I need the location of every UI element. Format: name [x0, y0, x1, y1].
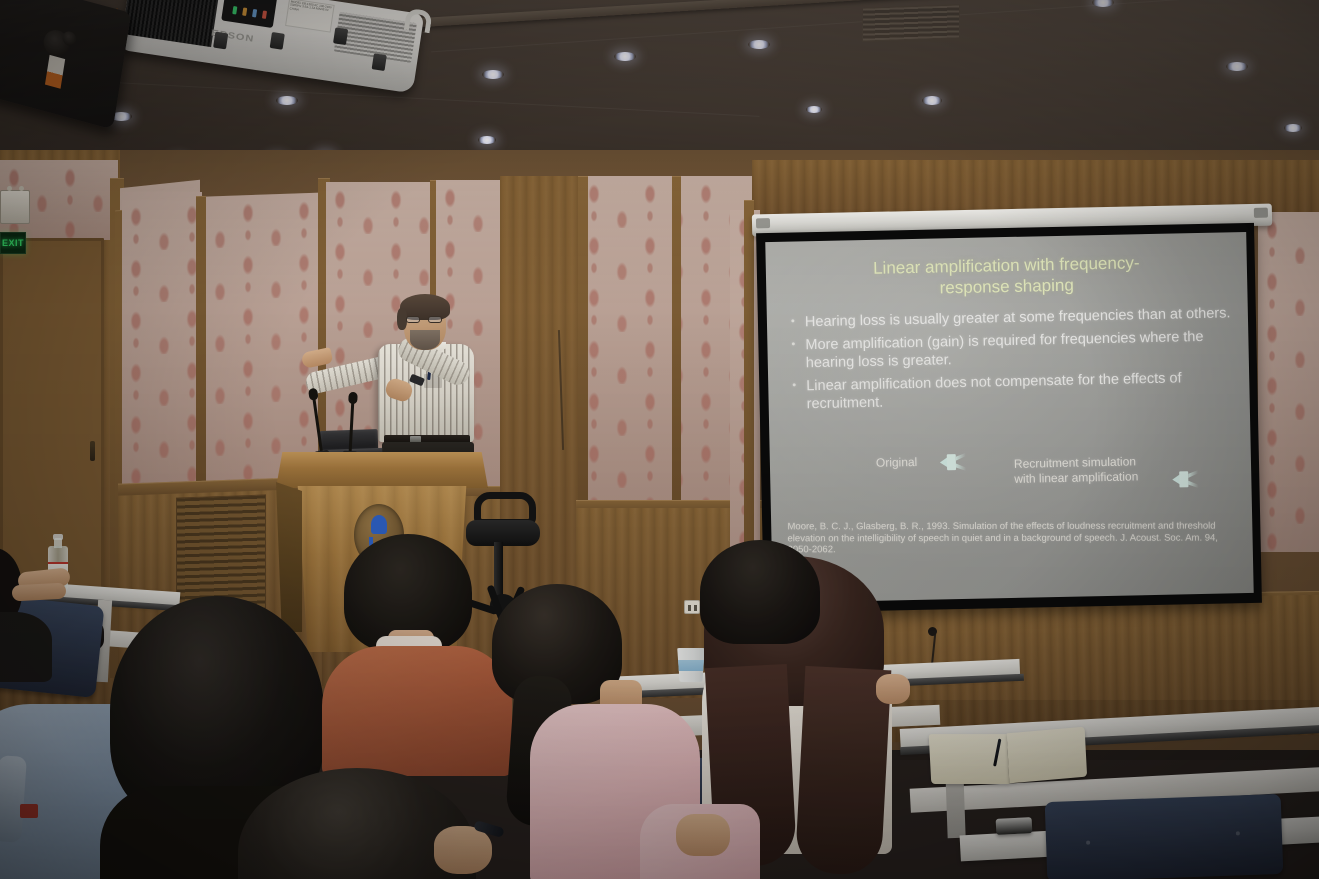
- mobile-phone: [996, 817, 1033, 835]
- ceiling-downlight: [1226, 62, 1248, 71]
- presentation-slide: Linear amplification with frequency- res…: [765, 232, 1253, 603]
- projector-mount-bracket: [213, 32, 228, 50]
- audience-member: [640, 804, 770, 879]
- slide-audio-label-original: Original: [876, 455, 918, 471]
- person-hair: [700, 540, 820, 644]
- slide-bullet-2: More amplification (gain) is required fo…: [789, 327, 1237, 373]
- ceiling-vent: [862, 4, 960, 41]
- ceiling-downlight: [748, 40, 770, 49]
- speaker-label: [45, 55, 65, 89]
- audience-member: [0, 548, 80, 668]
- person-body: [0, 612, 52, 682]
- slide-citation: Moore, B. C. J., Glasberg, B. R., 1993. …: [787, 521, 1240, 556]
- person-hand: [12, 583, 67, 602]
- ceiling-downlight: [614, 52, 636, 61]
- wall-alarm-device: [0, 190, 30, 224]
- person-hand: [676, 814, 730, 856]
- person-ear: [876, 674, 910, 704]
- notebook-right-page: [1007, 727, 1087, 784]
- door-handle[interactable]: [90, 441, 95, 461]
- lecture-hall-photo: MODEL EB-1900 AC 100-240V 50/60Hz 3.6A-1…: [0, 0, 1319, 879]
- presenter-left-hand: [301, 347, 334, 369]
- microphone-head: [348, 392, 358, 404]
- projector-mount-bracket: [333, 27, 348, 45]
- ceiling-beam: [401, 0, 1319, 28]
- screen-housing-endcap: [756, 218, 770, 228]
- auditorium-seat[interactable]: [1045, 794, 1284, 879]
- wall-trim: [578, 176, 588, 506]
- audience-member: [238, 768, 488, 879]
- ceiling-downlight: [1284, 124, 1302, 132]
- screen-housing-endcap: [1254, 208, 1268, 218]
- jacket-brand-tab: [20, 804, 38, 818]
- audience-member: [700, 540, 820, 650]
- slide-audio-label-recruitment: Recruitment simulation with linear ampli…: [1014, 454, 1139, 487]
- projector-mount-bracket: [270, 32, 285, 50]
- wallpaper-panel: [122, 192, 324, 489]
- ceiling-downlight: [922, 96, 942, 105]
- presenter-glasses: [406, 316, 444, 323]
- podium-surface: [276, 452, 488, 488]
- wallpaper-panel: [1258, 212, 1319, 552]
- slide-bullet-list: Hearing loss is usually greater at some …: [789, 304, 1238, 418]
- slide-title: Linear amplification with frequency- res…: [798, 251, 1216, 302]
- speaker-audio-icon[interactable]: [1172, 469, 1198, 490]
- ceiling-downlight: [276, 96, 298, 105]
- ceiling-downlight: [478, 136, 496, 144]
- wall-trim: [196, 196, 206, 496]
- projector-mount-bracket: [372, 53, 387, 71]
- projector: MODEL EB-1900 AC 100-240V 50/60Hz 3.6A-1…: [120, 0, 425, 93]
- presenter-beard: [410, 330, 440, 350]
- ceiling-downlight: [806, 106, 822, 113]
- ceiling-speaker: [0, 0, 131, 129]
- exit-sign: EXIT: [0, 232, 26, 254]
- projector-mount-arm: [404, 8, 433, 34]
- ceiling-downlight: [482, 70, 504, 79]
- projection-screen: Linear amplification with frequency- res…: [756, 223, 1262, 613]
- ceiling-downlight: [1092, 0, 1114, 7]
- wall-trim: [672, 176, 681, 506]
- slide-audio-label-recruitment-line2: with linear amplification: [1014, 469, 1138, 487]
- slide-audio-demo-row: Original Recruitment simulation with lin…: [792, 446, 1240, 517]
- slide-bullet-3: Linear amplification does not compensate…: [790, 368, 1238, 414]
- speaker-audio-icon[interactable]: [940, 452, 966, 473]
- exit-sign-label: EXIT: [2, 238, 24, 248]
